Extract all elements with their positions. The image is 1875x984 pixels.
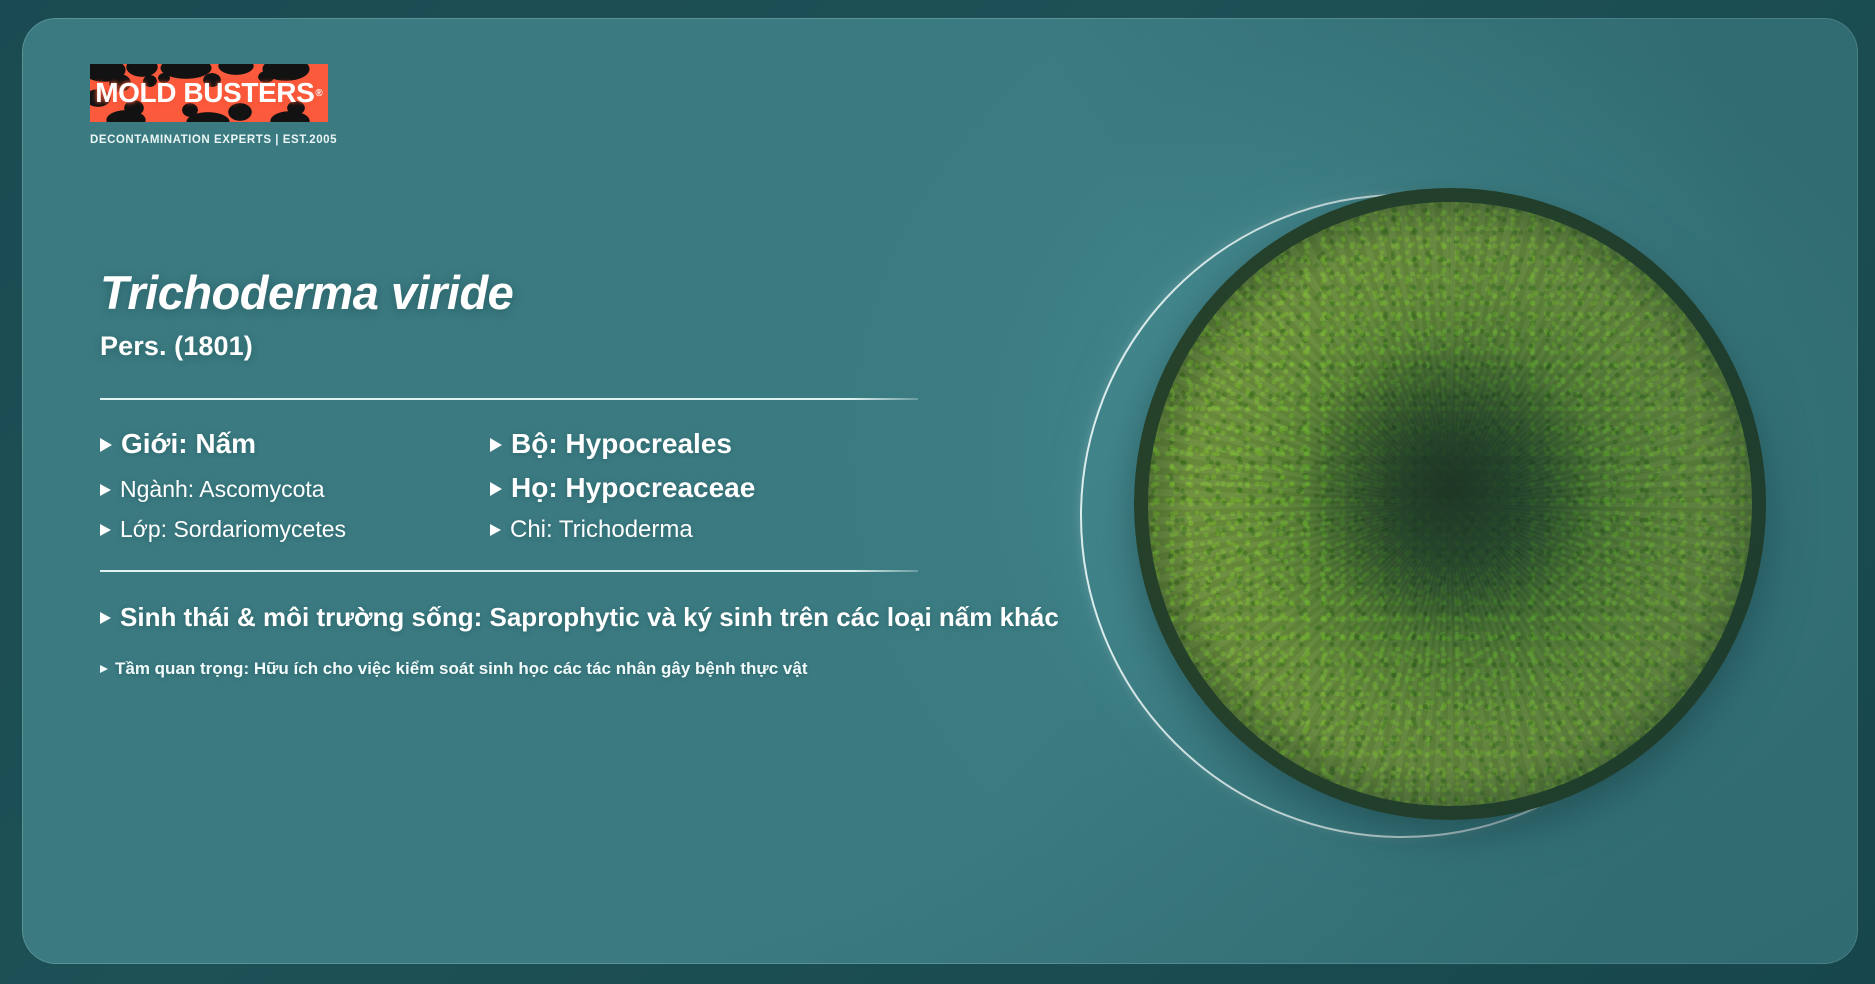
arrow-bullet-icon [490, 438, 502, 452]
importance-text: Tầm quan trọng: Hữu ích cho việc kiểm so… [115, 659, 807, 679]
arrow-bullet-icon [100, 665, 108, 673]
taxonomy-grid: Giới: Nấm Ngành: Ascomycota Lớp: Sordari… [100, 428, 1100, 544]
arrow-bullet-icon [100, 484, 111, 496]
taxonomy-kingdom-text: Giới: Nấm [121, 428, 256, 460]
dish-plate [1134, 188, 1766, 820]
arrow-bullet-icon [100, 438, 112, 452]
taxonomy-order: Bộ: Hypocreales [490, 428, 910, 460]
page-stage: MOLD BUSTERS ® DECONTAMINATION EXPERTS |… [0, 0, 1875, 984]
taxonomy-family: Họ: Hypocreaceae [490, 472, 910, 504]
divider-bottom [100, 570, 918, 572]
taxonomy-order-text: Bộ: Hypocreales [511, 428, 732, 460]
taxonomy-class: Lớp: Sordariomycetes [100, 516, 490, 543]
registered-trademark-icon: ® [315, 88, 322, 99]
brand-logo[interactable]: MOLD BUSTERS ® DECONTAMINATION EXPERTS |… [90, 64, 336, 146]
taxonomy-phylum: Ngành: Ascomycota [100, 476, 490, 503]
taxonomy-phylum-text: Ngành: Ascomycota [120, 476, 325, 503]
taxonomy-family-text: Họ: Hypocreaceae [511, 472, 755, 504]
arrow-bullet-icon [490, 482, 502, 496]
arrow-bullet-icon [490, 524, 501, 536]
arrow-bullet-icon [100, 524, 111, 536]
taxonomy-column-left: Giới: Nấm Ngành: Ascomycota Lớp: Sordari… [100, 428, 490, 544]
importance-line: Tầm quan trọng: Hữu ích cho việc kiểm so… [100, 659, 1100, 679]
ecology-line: Sinh thái & môi trường sống: Saprophytic… [100, 602, 1100, 633]
taxonomy-class-text: Lớp: Sordariomycetes [120, 516, 346, 543]
taxonomy-genus: Chi: Trichoderma [490, 516, 910, 544]
logo-mark: MOLD BUSTERS ® [90, 64, 328, 122]
species-content: Trichoderma viride Pers. (1801) Giới: Nấ… [100, 268, 1100, 679]
petri-dish-image [1062, 138, 1842, 898]
species-info-card: MOLD BUSTERS ® DECONTAMINATION EXPERTS |… [22, 18, 1858, 964]
logo-tagline: DECONTAMINATION EXPERTS | EST.2005 [90, 134, 336, 146]
species-name: Trichoderma viride [100, 268, 1100, 317]
arrow-bullet-icon [100, 612, 111, 624]
taxonomy-column-right: Bộ: Hypocreales Họ: Hypocreaceae Chi: Tr… [490, 428, 910, 544]
taxonomy-kingdom: Giới: Nấm [100, 428, 490, 460]
mold-colony [1148, 202, 1752, 806]
logo-wordmark: MOLD BUSTERS [95, 77, 314, 109]
taxonomy-genus-text: Chi: Trichoderma [510, 516, 693, 544]
ecology-text: Sinh thái & môi trường sống: Saprophytic… [120, 602, 1059, 633]
divider-top [100, 398, 918, 400]
species-authority: Pers. (1801) [100, 331, 1100, 362]
